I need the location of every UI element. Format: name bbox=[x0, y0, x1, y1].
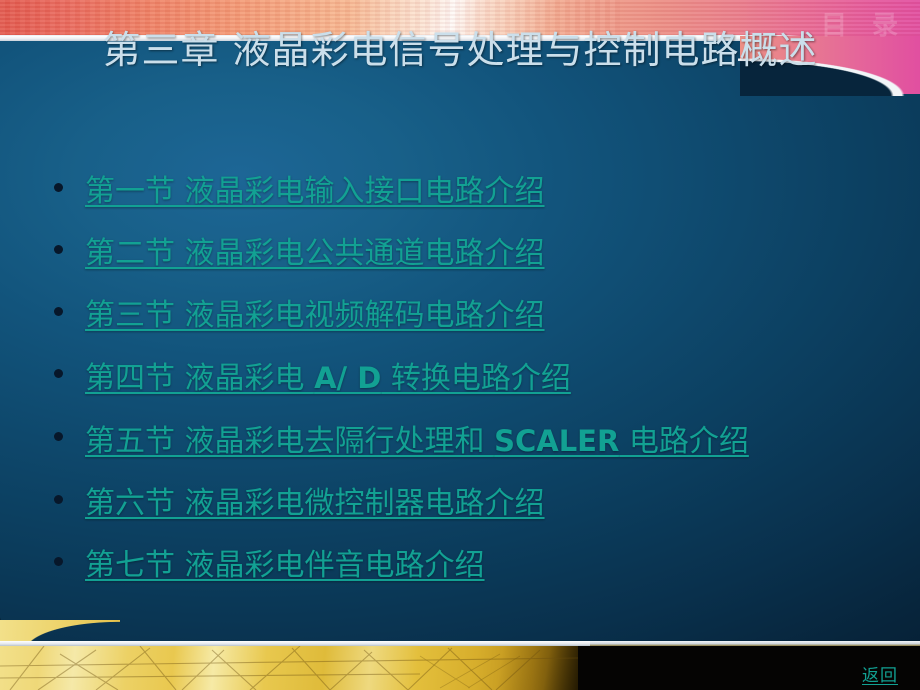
presentation-slide: 第三章 液晶彩电信号处理与控制电路概述 目 录 第一节 液晶彩电输入接口电路介绍… bbox=[0, 0, 920, 690]
bullet-icon bbox=[54, 183, 63, 192]
footer-divider-left bbox=[0, 641, 600, 646]
bullet-icon bbox=[54, 369, 63, 378]
toc-link-section-6[interactable]: 第六节 液晶彩电微控制器电路介绍 bbox=[85, 478, 545, 530]
toc-link-section-1[interactable]: 第一节 液晶彩电输入接口电路介绍 bbox=[85, 166, 545, 218]
footer-divider-right bbox=[590, 641, 920, 646]
bullet-icon bbox=[54, 432, 63, 441]
bullet-icon bbox=[54, 557, 63, 566]
toc-link-section-7[interactable]: 第七节 液晶彩电伴音电路介绍 bbox=[85, 540, 485, 592]
list-item[interactable]: 第五节 液晶彩电去隔行处理和 SCALER 电路介绍 bbox=[42, 415, 887, 468]
list-item[interactable]: 第三节 液晶彩电视频解码电路介绍 bbox=[42, 290, 887, 342]
list-item[interactable]: 第一节 液晶彩电输入接口电路介绍 bbox=[42, 166, 887, 218]
bullet-icon bbox=[54, 245, 63, 254]
return-link[interactable]: 返回 bbox=[862, 661, 898, 686]
toc-link-section-5[interactable]: 第五节 液晶彩电去隔行处理和 SCALER 电路介绍 bbox=[85, 415, 749, 468]
bullet-icon bbox=[54, 307, 63, 316]
footer-gold-band bbox=[0, 644, 578, 690]
bullet-icon bbox=[54, 495, 63, 504]
toc-list: 第一节 液晶彩电输入接口电路介绍 第二节 液晶彩电公共通道电路介绍 第三节 液晶… bbox=[42, 166, 887, 602]
list-item[interactable]: 第四节 液晶彩电 A/ D 转换电路介绍 bbox=[42, 352, 887, 405]
page-title: 第三章 液晶彩电信号处理与控制电路概述 bbox=[28, 26, 892, 74]
toc-badge: 目 录 bbox=[821, 4, 906, 41]
list-item[interactable]: 第七节 液晶彩电伴音电路介绍 bbox=[42, 540, 887, 592]
toc-link-section-3[interactable]: 第三节 液晶彩电视频解码电路介绍 bbox=[85, 290, 545, 342]
toc-link-section-2[interactable]: 第二节 液晶彩电公共通道电路介绍 bbox=[85, 228, 545, 280]
list-item[interactable]: 第二节 液晶彩电公共通道电路介绍 bbox=[42, 228, 887, 280]
toc-link-section-4[interactable]: 第四节 液晶彩电 A/ D 转换电路介绍 bbox=[85, 352, 571, 405]
list-item[interactable]: 第六节 液晶彩电微控制器电路介绍 bbox=[42, 478, 887, 530]
